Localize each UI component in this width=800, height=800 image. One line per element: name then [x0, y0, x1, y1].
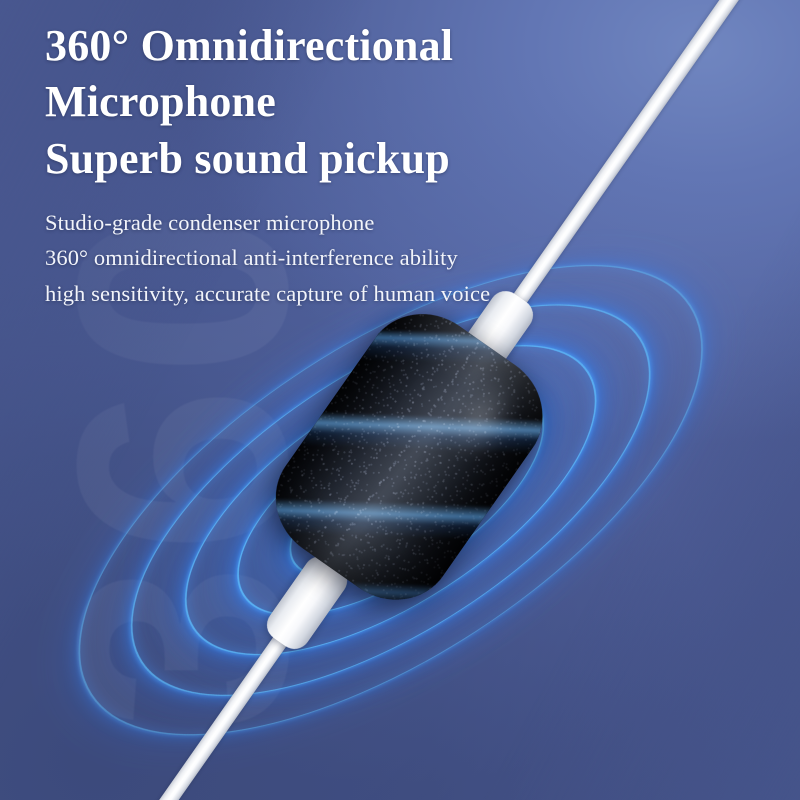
headline-line-1: 360° Omnidirectional	[45, 18, 685, 74]
product-banner: 360 360° Omnidirectional Microphone Supe…	[0, 0, 800, 800]
page-title: 360° Omnidirectional Microphone Superb s…	[45, 18, 685, 187]
subtext-block: Studio-grade condenser microphone 360° o…	[45, 205, 685, 312]
subtext-line-3: high sensitivity, accurate capture of hu…	[45, 276, 685, 312]
headline-line-2: Microphone	[45, 74, 685, 130]
copy-block: 360° Omnidirectional Microphone Superb s…	[45, 18, 685, 312]
headline-line-3: Superb sound pickup	[45, 131, 685, 187]
subtext-line-1: Studio-grade condenser microphone	[45, 205, 685, 241]
subtext-line-2: 360° omnidirectional anti-interference a…	[45, 240, 685, 276]
